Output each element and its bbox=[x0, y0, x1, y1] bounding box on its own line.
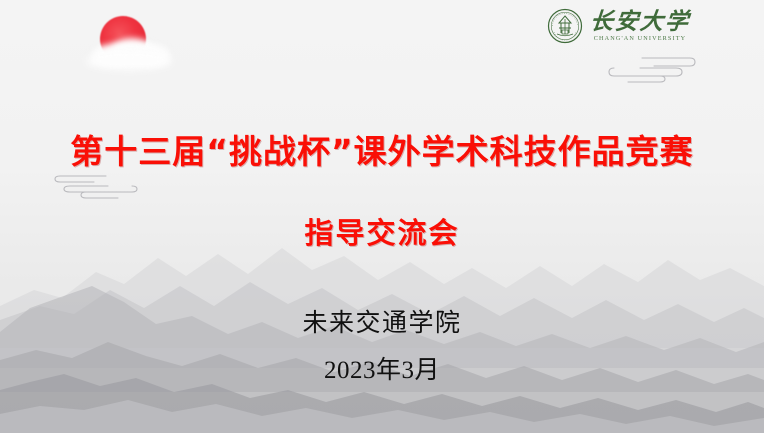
university-name-cn: 长安大学 bbox=[589, 10, 691, 33]
university-logo-text: 长安大学 CHANG'AN UNIVERSITY bbox=[590, 10, 690, 42]
cloud-motif-right bbox=[606, 52, 702, 88]
cloud-base-icon bbox=[86, 52, 172, 70]
slide-title-line1: 第十三届“挑战杯”课外学术科技作品竞赛 bbox=[0, 133, 764, 172]
university-name-en: CHANG'AN UNIVERSITY bbox=[594, 36, 687, 42]
presentation-date: 2023年3月 bbox=[0, 350, 764, 386]
slide-title-block: 第十三届“挑战杯”课外学术科技作品竞赛 指导交流会 bbox=[0, 133, 764, 252]
presentation-slide: 长安大学 CHANG'AN UNIVERSITY 第十三届“挑战杯”课外学术科技… bbox=[0, 0, 764, 433]
changan-university-seal-icon bbox=[547, 8, 583, 44]
organization-name: 未来交通学院 bbox=[0, 303, 764, 339]
mountain-layer-foreground bbox=[0, 384, 764, 433]
slide-title-line2: 指导交流会 bbox=[0, 210, 764, 252]
slide-footer-block: 未来交通学院 2023年3月 bbox=[0, 303, 764, 386]
university-logo: 长安大学 CHANG'AN UNIVERSITY bbox=[547, 8, 690, 44]
sun-and-cloud-decoration bbox=[86, 14, 178, 76]
